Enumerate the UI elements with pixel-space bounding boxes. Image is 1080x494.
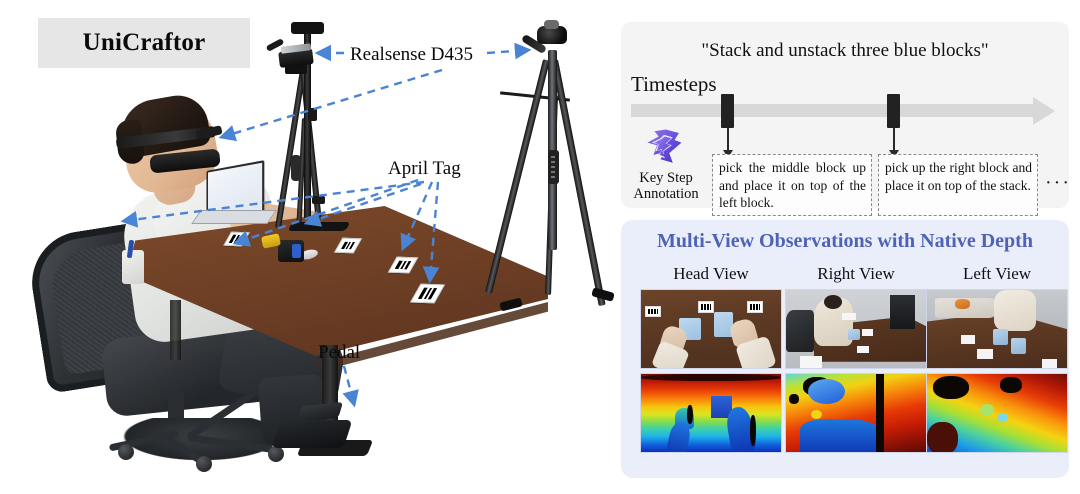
blue-block	[993, 329, 1008, 345]
annotation-label-pedal: Pedal	[318, 342, 360, 364]
setup-photo-panel: UniCraftor Realsense D435 April Tag Peda…	[0, 0, 620, 494]
key-step-caption-line2: Annotation	[627, 186, 705, 202]
view-header-right: Right View	[785, 264, 927, 284]
april-tag-marker	[862, 329, 873, 336]
depth-near-region	[927, 422, 958, 453]
april-tag-marker	[961, 335, 975, 344]
april-tag-marker	[857, 346, 868, 353]
depth-edge-shadow	[750, 415, 756, 446]
key-step-annotation-caption: Key Step Annotation	[627, 170, 705, 202]
figure-root: UniCraftor Realsense D435 April Tag Peda…	[0, 0, 1080, 494]
depth-edge-shadow	[687, 405, 693, 424]
annotation-arrows	[0, 0, 620, 494]
paper-sheet	[842, 313, 856, 320]
left-view-rgb-image	[926, 289, 1068, 369]
timesteps-label: Timesteps	[631, 72, 717, 97]
right-view-depth-image	[785, 373, 927, 453]
view-header-head: Head View	[640, 264, 782, 284]
view-column-right: Right View	[785, 264, 927, 453]
view-column-head: Head View	[640, 264, 782, 453]
steps-ellipsis: ···	[1045, 172, 1071, 195]
person-body	[994, 290, 1036, 331]
depth-desk-near	[800, 419, 881, 453]
annotation-label-realsense: Realsense D435	[350, 44, 473, 66]
timeline-tick[interactable]	[721, 94, 734, 128]
depth-invalid-region	[1000, 377, 1022, 393]
blue-block	[1011, 338, 1026, 354]
timeline-tick[interactable]	[887, 94, 900, 128]
timeline-connector	[893, 128, 895, 152]
depth-invalid-region	[789, 394, 799, 403]
depth-invalid-region	[933, 376, 969, 399]
key-step-text-box: pick up the right block and place it on …	[878, 154, 1038, 216]
depth-invalid-region	[641, 374, 781, 381]
depth-person-region	[808, 379, 844, 404]
key-step-logo-icon	[643, 126, 685, 168]
monitor	[890, 295, 915, 329]
timeline-connector	[727, 128, 729, 152]
depth-edge-shadow	[876, 374, 884, 452]
office-chair	[786, 310, 814, 352]
april-tag-marker	[747, 301, 762, 313]
april-tag-marker	[1042, 359, 1057, 368]
annotation-label-april-tag: April Tag	[388, 158, 461, 180]
head-view-depth-image	[640, 373, 782, 453]
multi-view-observations-panel: Multi-View Observations with Native Dept…	[621, 220, 1069, 478]
person-hair	[824, 295, 842, 309]
april-tag-marker	[977, 349, 992, 358]
figure-title-badge: UniCraftor	[38, 18, 250, 68]
timeline-bar	[631, 104, 1035, 117]
task-instruction-quote: "Stack and unstack three blue blocks"	[621, 40, 1069, 62]
task-timeline-panel: "Stack and unstack three blue blocks" Ti…	[621, 22, 1069, 208]
timeline-arrowhead-icon	[1033, 97, 1055, 125]
head-view-rgb-image	[640, 289, 782, 369]
view-column-left: Left View	[926, 264, 1068, 453]
key-step-caption-line1: Key Step	[627, 170, 705, 186]
left-view-depth-image	[926, 373, 1068, 453]
tabletop-object	[800, 356, 822, 368]
views-panel-title: Multi-View Observations with Native Dept…	[621, 230, 1069, 253]
right-view-rgb-image	[785, 289, 927, 369]
key-step-text-box: pick the middle block up and place it on…	[712, 154, 872, 216]
view-header-left: Left View	[926, 264, 1068, 284]
april-tag-marker	[698, 301, 713, 313]
blue-block	[848, 329, 861, 340]
april-tag-marker	[645, 306, 660, 318]
